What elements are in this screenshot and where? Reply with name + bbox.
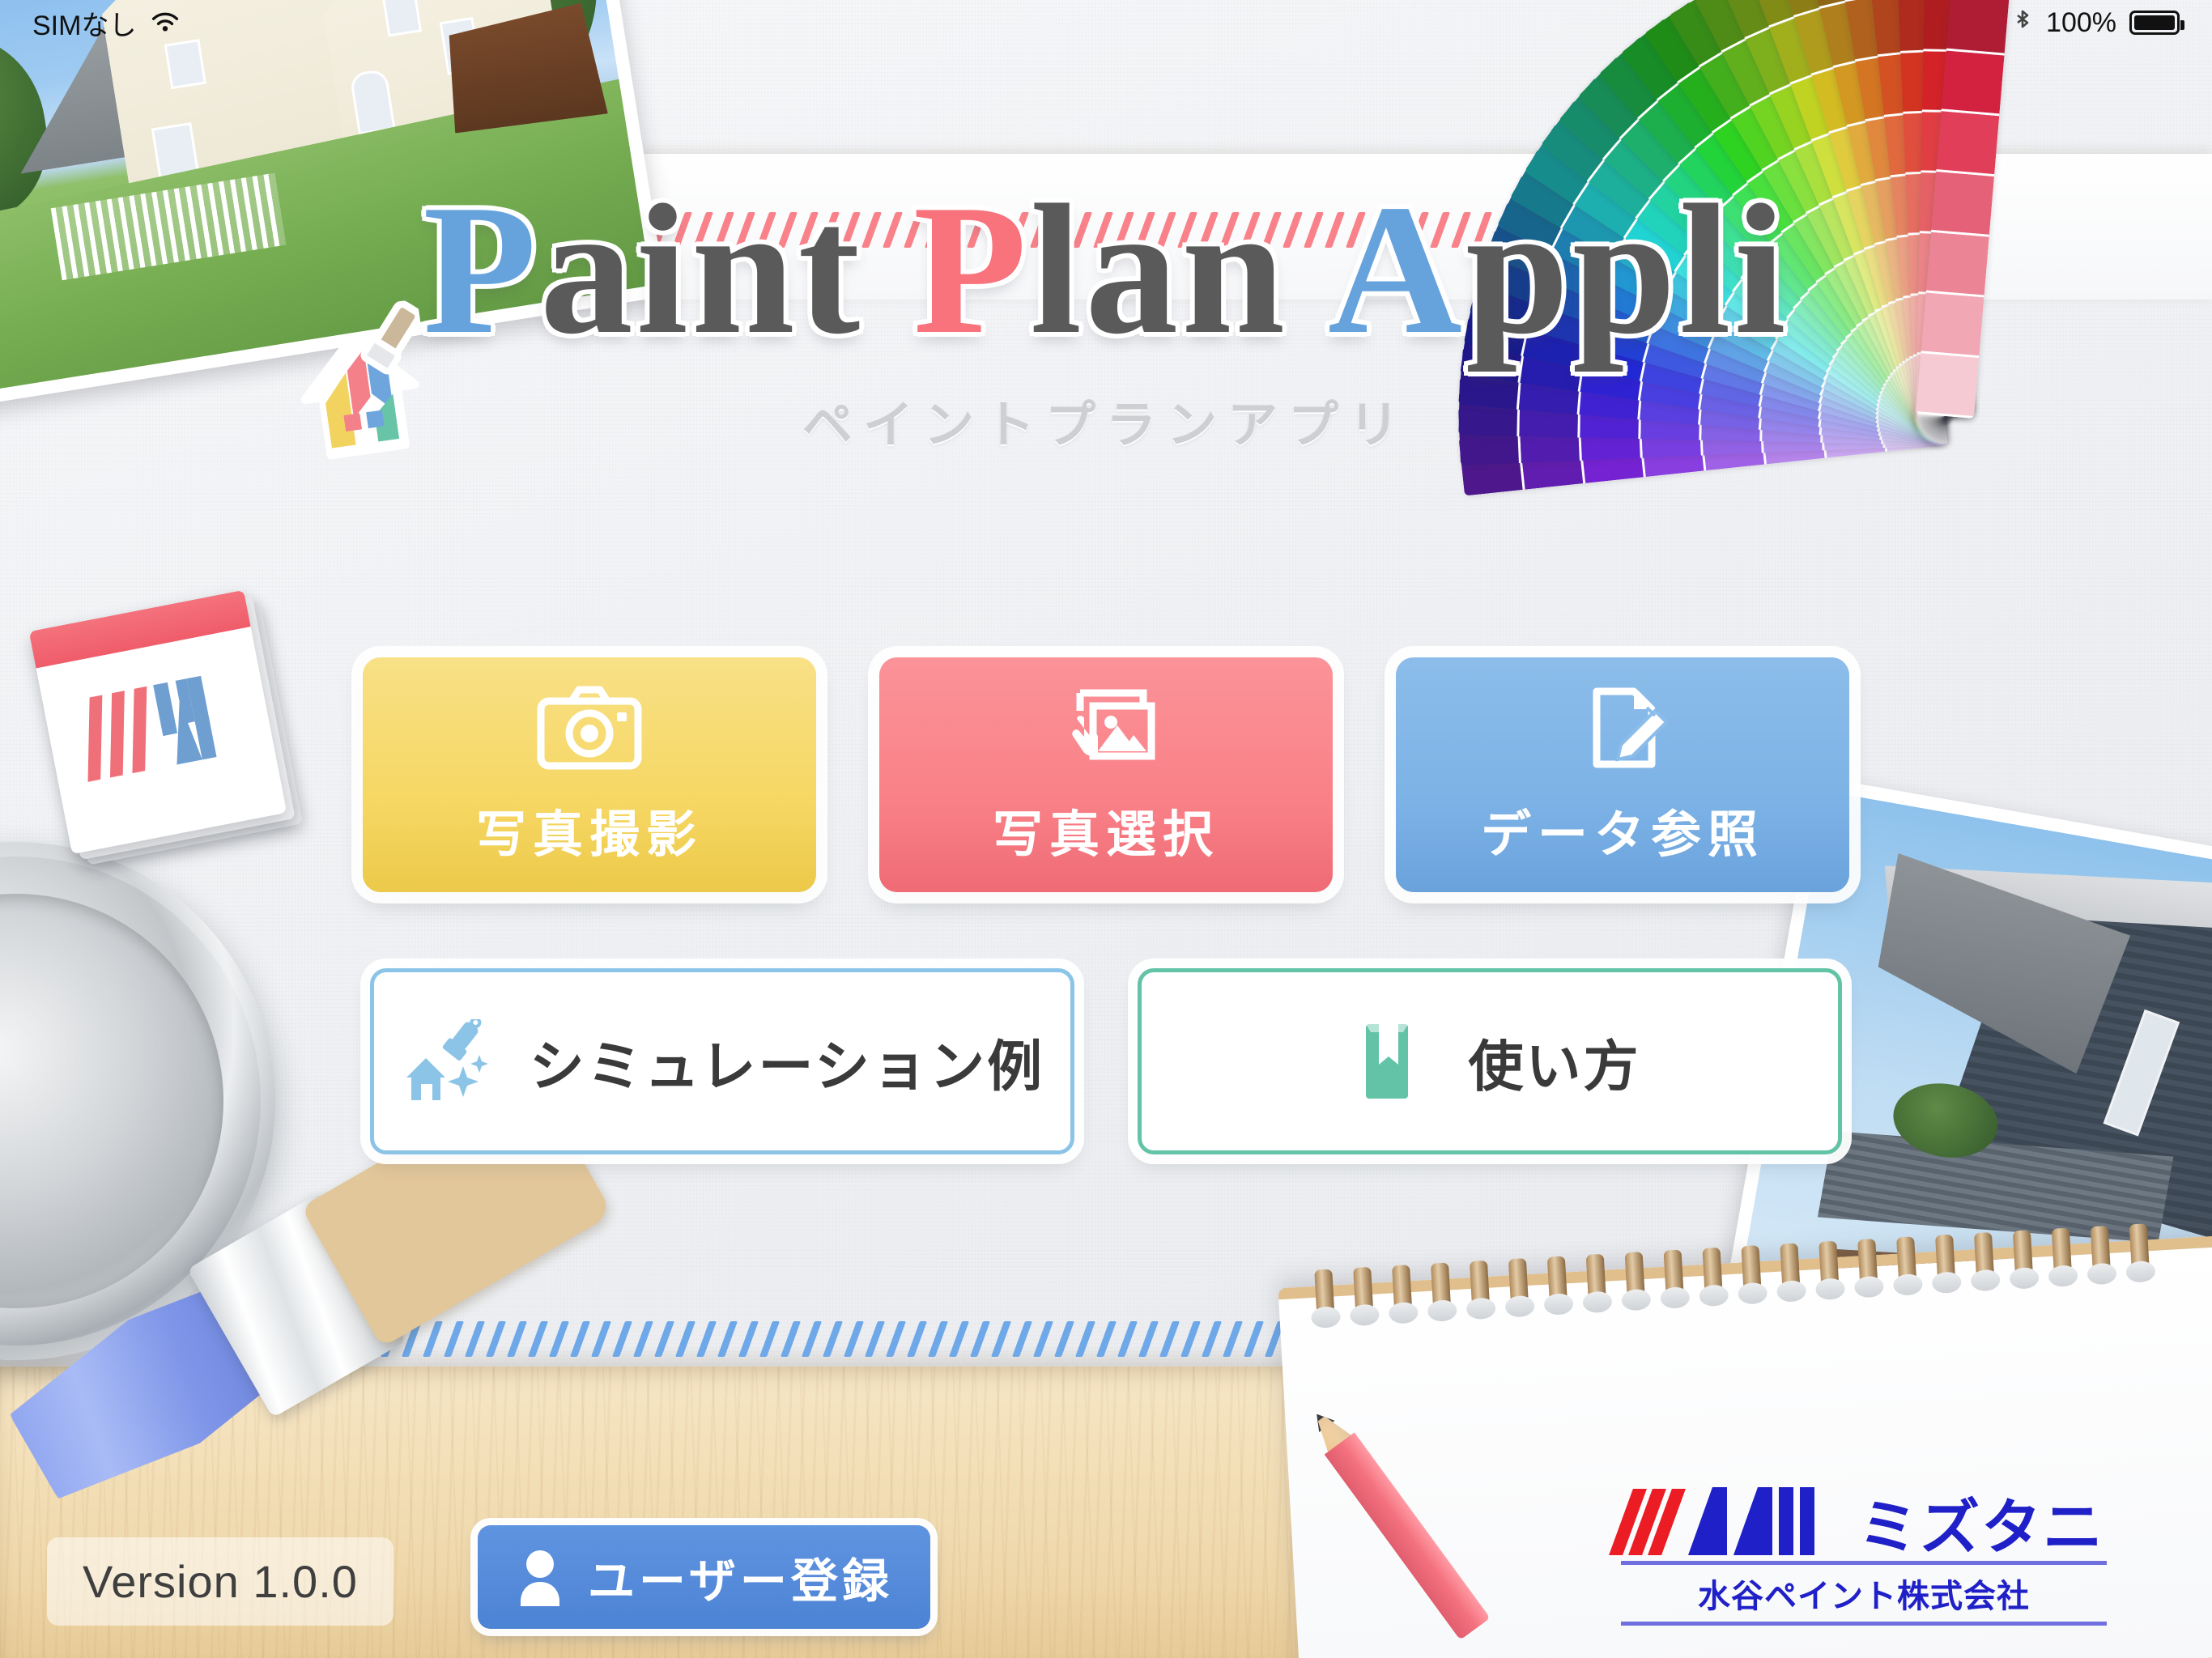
photo-capture-button[interactable]: 写真撮影	[363, 657, 816, 892]
pencil	[1303, 1402, 1491, 1639]
bluetooth-icon	[2012, 7, 2033, 38]
notebook-ring	[1780, 1243, 1800, 1290]
notebook-ring	[1935, 1235, 1955, 1282]
simulation-example-button[interactable]: シミュレーション例	[370, 968, 1074, 1154]
data-browse-button[interactable]: データ参照	[1396, 657, 1849, 892]
logo-m-mark	[1688, 1484, 1844, 1555]
how-to-use-button[interactable]: 使い方	[1138, 968, 1842, 1154]
notebook-ring	[1392, 1265, 1412, 1312]
notebook-ring	[2013, 1230, 2033, 1278]
notebook-ring	[1431, 1263, 1451, 1311]
battery-percent: 100%	[2046, 7, 2116, 39]
notebook-ring	[1586, 1254, 1606, 1302]
title-segment: aint	[540, 166, 913, 372]
app-screen: ミズタニ 水谷ペイント株式会社 SIMなし 100% Paint Plan Ap…	[0, 0, 2212, 1658]
status-bar: SIMなし 100%	[0, 0, 2212, 45]
title-segment: ppli	[1465, 166, 1789, 372]
notebook-ring	[1625, 1252, 1645, 1299]
camera-icon	[536, 683, 643, 772]
notebook-ring	[1896, 1236, 1916, 1284]
wifi-icon	[149, 11, 181, 35]
notebook-ring	[1547, 1256, 1568, 1303]
pick-photo-icon	[1053, 683, 1159, 772]
photo-select-label: 写真選択	[993, 793, 1219, 866]
title-segment: P	[423, 166, 540, 372]
notebook-ring	[1857, 1239, 1878, 1286]
company-name: 水谷ペイント株式会社	[1621, 1570, 2107, 1617]
person-icon	[515, 1548, 565, 1606]
notebook-ring	[1353, 1267, 1373, 1315]
title-segment: A	[1328, 166, 1465, 372]
logo-slashes-icon	[1621, 1489, 1674, 1555]
title-segment: P	[913, 166, 1031, 372]
notebook-ring	[1741, 1245, 1761, 1293]
notebook-ring	[1819, 1241, 1839, 1289]
user-register-label: ユーザー登録	[588, 1543, 893, 1611]
logo-kana: ミズタニ	[1858, 1500, 2104, 1555]
how-to-use-label: 使い方	[1468, 1022, 1640, 1102]
notebook-ring	[1314, 1269, 1334, 1317]
battery-full-icon	[2129, 11, 2180, 35]
document-edit-icon	[1569, 683, 1676, 772]
user-register-button[interactable]: ユーザー登録	[478, 1525, 930, 1629]
company-logo: ミズタニ 水谷ペイント株式会社	[1621, 1484, 2107, 1626]
logo-divider-bottom	[1621, 1622, 2107, 1626]
house-brush-sparkle-icon	[400, 1019, 497, 1103]
photo-select-button[interactable]: 写真選択	[879, 657, 1333, 892]
notebook-ring	[2129, 1223, 2150, 1271]
notebook-ring	[1664, 1249, 1684, 1297]
notebook-ring	[2052, 1228, 2072, 1276]
photo-capture-label: 写真撮影	[476, 793, 703, 866]
notebook-ring	[1702, 1248, 1722, 1295]
title-segment: lan	[1030, 166, 1328, 372]
main-button-row: 写真撮影 写真選択 データ参照	[0, 657, 2212, 892]
house-paintbrush-icon	[281, 299, 440, 478]
notebook-ring	[1508, 1258, 1529, 1306]
data-browse-label: データ参照	[1481, 793, 1764, 866]
carrier-label: SIMなし	[32, 3, 136, 43]
notebook-ring	[2091, 1226, 2111, 1273]
notebook-ring	[1470, 1261, 1490, 1308]
version-label: Version 1.0.0	[47, 1537, 393, 1626]
notebook-ring	[1974, 1232, 1994, 1280]
manual-book-icon	[1338, 1019, 1436, 1103]
secondary-button-row: シミュレーション例 使い方	[0, 968, 2212, 1154]
simulation-example-label: シミュレーション例	[530, 1022, 1044, 1102]
